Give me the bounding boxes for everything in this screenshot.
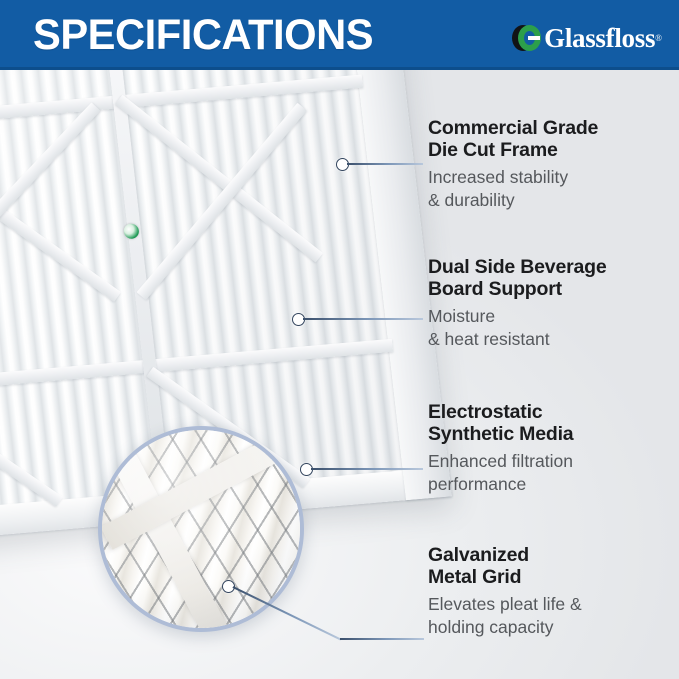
leader-line-2 [303,318,423,320]
callout-title: Dual Side Beverage Board Support [428,256,606,300]
magnifier-glass-shine [102,430,300,628]
brand-logo: Glassfloss ® [512,23,662,53]
specifications-infographic: SPECIFICATIONS Glassfloss ® [0,0,679,679]
leader-line-4b [340,638,424,640]
callout-title: Commercial Grade Die Cut Frame [428,117,598,161]
callout-subtitle: Enhanced filtration performance [428,450,573,496]
brand-name: Glassfloss [544,24,655,52]
leader-line-1 [347,163,423,165]
callout-dual-side-beverage-board-support: Dual Side Beverage Board Support Moistur… [428,256,606,351]
leader-line-3 [311,468,423,470]
callout-subtitle: Moisture & heat resistant [428,305,606,351]
brand-trademark: ® [655,33,662,43]
callout-commercial-grade-die-cut-frame: Commercial Grade Die Cut Frame Increased… [428,117,598,212]
header-bar: SPECIFICATIONS Glassfloss ® [0,0,679,70]
glassfloss-g-icon [512,24,541,53]
callout-subtitle: Increased stability & durability [428,166,598,212]
page-title: SPECIFICATIONS [33,13,373,57]
callout-subtitle: Elevates pleat life & holding capacity [428,593,582,639]
callout-title: Galvanized Metal Grid [428,544,582,588]
callout-galvanized-metal-grid: Galvanized Metal Grid Elevates pleat lif… [428,544,582,639]
magnified-detail-circle [98,426,304,632]
callout-electrostatic-synthetic-media: Electrostatic Synthetic Media Enhanced f… [428,401,573,496]
callout-title: Electrostatic Synthetic Media [428,401,573,445]
